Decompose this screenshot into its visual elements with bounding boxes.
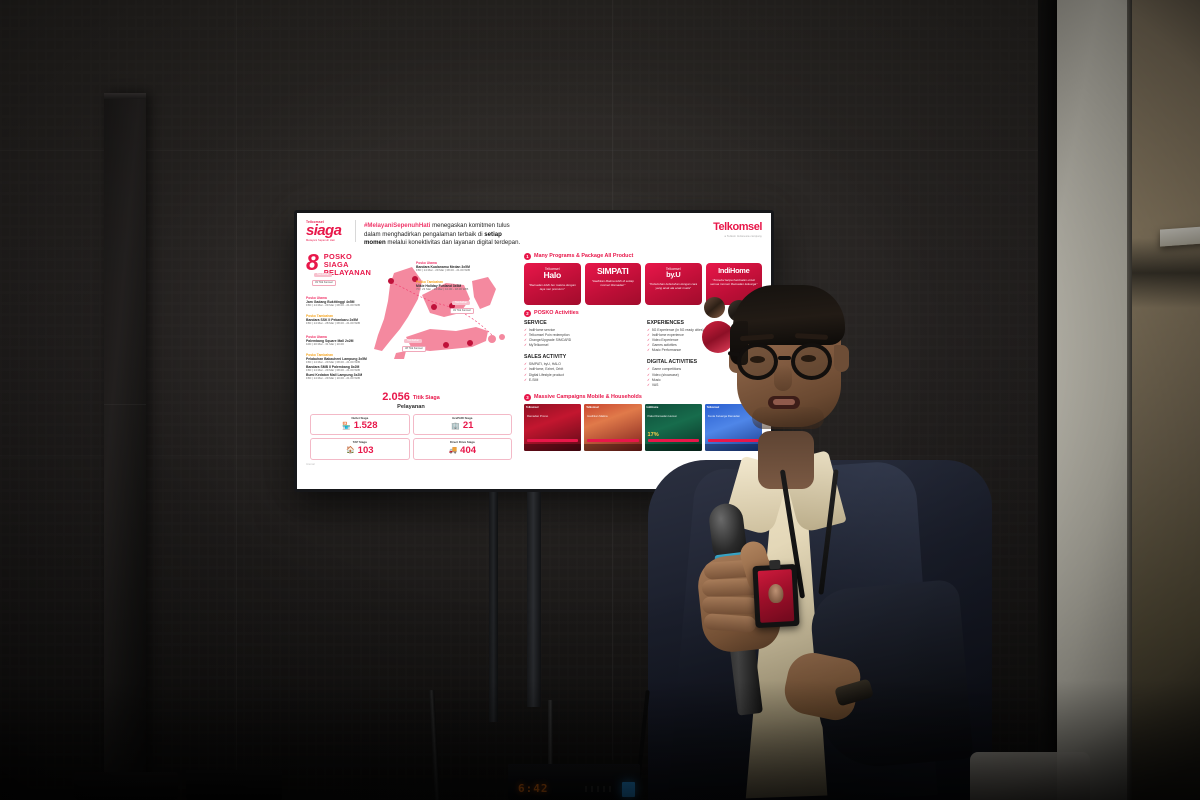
product-quote: "Ramadan lebih ber makna dengan laya nan… [527, 283, 578, 292]
slide-header: Telkomsel siaga Melayani Sepenuh Hati #M… [306, 220, 762, 248]
map-pin [431, 304, 437, 310]
posko-note-time: 15D | 14 Mar - 29 Mar | 08.00 - 21.00 WI… [306, 304, 392, 308]
van-icon: 🚚 [448, 447, 457, 454]
headline-line2b: setiap [484, 231, 502, 238]
posko-note: Posko Tambahan Bandara SSK II Pekanbaru … [306, 314, 392, 326]
map-pin [388, 278, 394, 284]
map-bali [488, 335, 496, 343]
titik-siaga-label: Titik Siaga [413, 395, 440, 402]
speaker-column-seam [104, 404, 146, 405]
siaga-logo-tagline: Melayani Sepenuh Hati [306, 239, 348, 242]
product-card-halo: Telkomsel Halo "Ramadan lebih ber makna … [524, 263, 581, 305]
map-pin-tag: Tambahan [314, 273, 332, 277]
wall-warm-stone [1132, 0, 1200, 800]
campaign-brand: Telkomsel [586, 406, 599, 409]
activity-item: ✓E-SIM [524, 378, 639, 383]
headline-rest1: menegaskan komitmen tulus [430, 222, 509, 229]
titik-siaga-number: 2.056 [382, 391, 410, 405]
presenter-chin [752, 407, 824, 429]
section-number: 2 [524, 310, 531, 317]
campaign-cta [587, 439, 638, 442]
product-card-simpati: SIMPATI "Hadirkan Makna lebih di setiap … [585, 263, 642, 305]
posko-note-time: 15D | 14 Mar - 28 Mar | 08.00 - 21.00 WI… [306, 322, 392, 326]
posko-note-time: 15D | 14 Mar - 29 Mar | 08.00 - 21.00 WI… [416, 269, 502, 273]
speaker-column [104, 93, 146, 783]
booth-icon: 🏠 [346, 447, 355, 454]
stat-grid: Outlet Siaga 🏪 1.528 GraPARI Siaga 🏢 [306, 414, 516, 460]
section-title: Massive Campaigns Mobile & Households [534, 394, 642, 401]
slide-headline: #MelayaniSepenuhHati menegaskan komitmen… [364, 220, 705, 248]
campaign-card: Telkomsel Hadirkan Makna [584, 404, 641, 451]
map-pin-tag: Tambahan [404, 339, 422, 343]
eyeglasses-lens-right [791, 343, 832, 380]
wall-seam [0, 150, 1040, 151]
slide-footer-note: Internal [306, 463, 516, 466]
map-pin [467, 340, 473, 346]
product-brand: SIMPATI [588, 267, 639, 276]
headline-hashtag: #MelayaniSepenuhHati [364, 222, 430, 229]
tv-stand-post [489, 492, 498, 722]
product-brand-small: Telkomsel [527, 267, 578, 271]
wall-seam [236, 0, 237, 800]
map-pin-label: 38 Titik Kamsel [402, 346, 426, 352]
posko-note: Posko Utama Palembang Square Mall 2x2M 1… [306, 335, 392, 347]
posko-note-time: 7D | 23 Mar - 29 Mar | 10.00 - 18.00 WIB [416, 288, 502, 292]
map-pin [443, 342, 449, 348]
telkomsel-wordmark: Telkomsel [713, 221, 762, 235]
product-brand: Halo [527, 271, 578, 280]
section-title: POSKO Activities [534, 310, 579, 317]
product-quote: "Hadirkan Makna lebih di setiap momen Ra… [588, 279, 639, 288]
headline-line3a: momen [364, 239, 386, 246]
activity-item: ✓MyTelkomsel [524, 343, 639, 348]
badge-card [758, 569, 795, 623]
av-led-display: 6:42 [518, 782, 572, 795]
section-number: 1 [524, 253, 531, 260]
activity-group-title: SERVICE [524, 320, 639, 327]
map-pin-tag: Tambahan [452, 301, 470, 305]
badge-photo [768, 583, 784, 603]
map-pin-label: 49 Titik Kamsel [450, 308, 474, 314]
campaign-footer-bar [524, 444, 581, 451]
stat-value: 1.528 [354, 420, 378, 432]
presenter-finger [702, 597, 758, 615]
map-lombok [499, 334, 505, 340]
eyeglasses-lens-left [737, 343, 778, 380]
check-icon: ✓ [524, 343, 527, 348]
slide-left-column: 8 POSKO SIAGA PELAYANAN [306, 253, 516, 466]
speaker-column-top [104, 93, 146, 99]
id-badge [752, 564, 799, 628]
stat-box-outlet: Outlet Siaga 🏪 1.528 [310, 414, 410, 436]
activity-column-left: SERVICE ✓IndiHome service ✓Telkomsel Poi… [524, 320, 639, 388]
presenter-nose [774, 365, 792, 391]
telkomsel-subtag: a Telkom Indonesia company [713, 235, 762, 238]
stat-box-direct-drive: Direct Drive Siaga 🚚 404 [413, 438, 513, 460]
headline-line3b: melalui konektivitas dan layanan digital… [386, 239, 521, 246]
av-blue-led [622, 782, 635, 797]
stat-row: 🏢 21 [451, 420, 473, 432]
stat-row: 🏪 1.528 [342, 420, 378, 432]
check-icon: ✓ [524, 378, 527, 383]
stat-box-grapari: GraPARI Siaga 🏢 21 [413, 414, 513, 436]
posko-note: Posko Tambahan Pelabuhan Bakauheni Lampu… [306, 353, 392, 381]
presenter-mouth-inner [773, 399, 795, 405]
section-number: 3 [524, 394, 531, 401]
stat-value: 103 [358, 445, 374, 457]
eyeglasses-bridge [778, 356, 791, 360]
indonesia-map: Tambahan 49 Titik Kamsel Tambahan 49 Tit… [306, 263, 516, 389]
av-indicator-dots [585, 786, 615, 792]
floor-equipment [186, 770, 282, 800]
activity-item-text: MyTelkomsel [529, 343, 549, 348]
titik-siaga-sublabel: Pelayanan [306, 404, 516, 411]
store-icon: 🏪 [342, 423, 351, 430]
campaign-cta [527, 439, 578, 442]
headline-line2a: dalam menghadirkan pengalaman terbaik di [364, 231, 484, 238]
speaker-column-base [74, 772, 178, 800]
presenter-ear-right [834, 345, 849, 372]
posko-note: Posko Tambahan Mikie Holiday Funland 3x5… [416, 280, 502, 292]
chair [970, 752, 1090, 800]
presenter [640, 255, 1000, 800]
campaign-card: Telkomsel Ramadan Promo [524, 404, 581, 451]
map-pin-label: 49 Titik Kamsel [312, 280, 336, 286]
wall-shelf [1160, 226, 1200, 246]
campaign-text: Hadirkan Makna [587, 415, 638, 419]
section-title: Many Programs & Package All Product [534, 253, 633, 260]
telkomsel-siaga-logo: Telkomsel siaga Melayani Sepenuh Hati [306, 220, 356, 242]
activity-item-text: E-SIM [529, 378, 538, 383]
stat-value: 21 [463, 420, 474, 432]
stat-row: 🚚 404 [448, 445, 476, 457]
wall-light-panel [1057, 0, 1129, 800]
wall-warm-shadow [1132, 238, 1200, 308]
tv-stand-post [527, 492, 541, 707]
map-islet [394, 351, 406, 359]
posko-note-time: 15D | 14 Mar - 29 Mar | 10.00 - 21.00 WI… [306, 377, 392, 381]
stat-row: 🏠 103 [346, 445, 374, 457]
campaign-brand: Telkomsel [526, 406, 539, 409]
telkomsel-logo: Telkomsel a Telkom Indonesia company [713, 220, 762, 238]
office-icon: 🏢 [451, 423, 460, 430]
activity-group-title: SALES ACTIVITY [524, 354, 639, 361]
badge-clip [769, 560, 780, 570]
stat-box-tap: TAP Siaga 🏠 103 [310, 438, 410, 460]
siaga-logo-word: siaga [306, 224, 348, 238]
posko-note-time: 10D | 20 Mar - 31 Mar | 10.00 [306, 343, 392, 347]
posko-note: Posko Utama Jam Gadang Bukittinggi 4x5M … [306, 296, 392, 308]
campaign-text: Ramadan Promo [527, 415, 578, 419]
campaign-footer-bar [584, 444, 641, 451]
titik-siaga-summary: 2.056Titik Siaga Pelayanan [306, 391, 516, 411]
stat-value: 404 [460, 445, 476, 457]
scene-root: Telkomsel siaga Melayani Sepenuh Hati #M… [0, 0, 1200, 800]
posko-note: Posko Utama Bandara Kualanamu Medan 3x5M… [416, 261, 502, 273]
